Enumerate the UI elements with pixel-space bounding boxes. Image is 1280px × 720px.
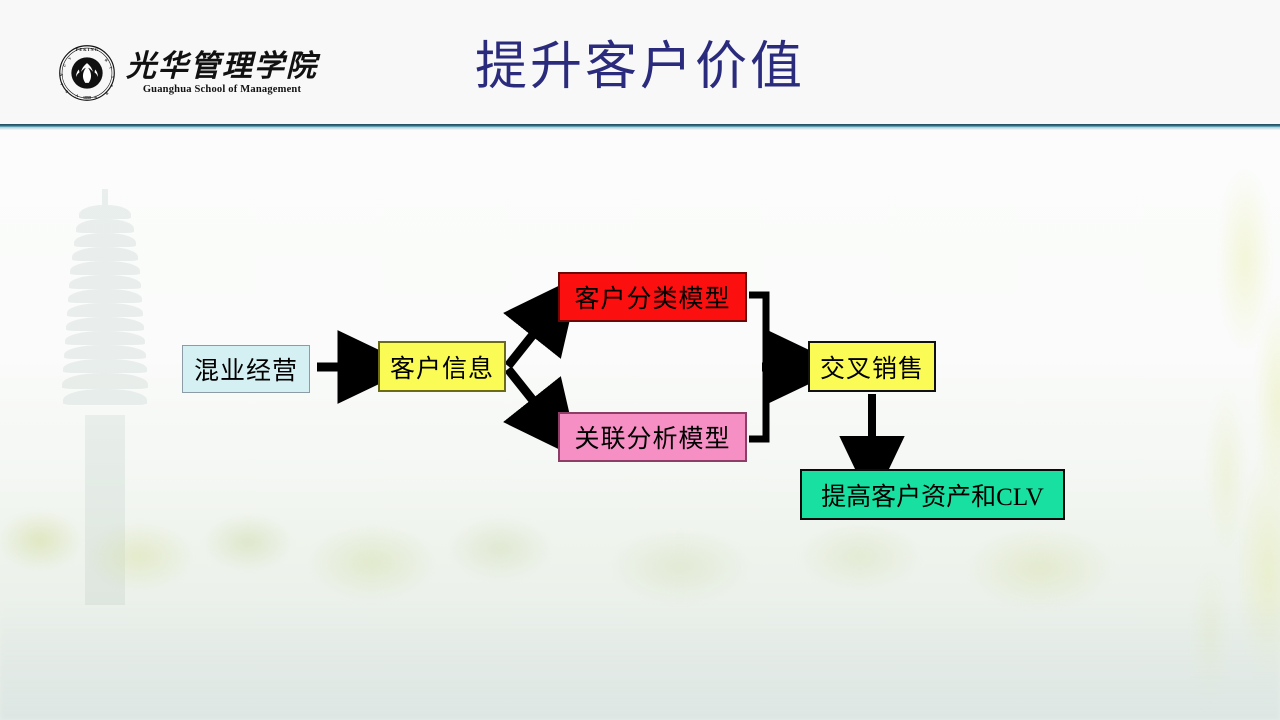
node-raise-clv[interactable]: 提高客户资产和CLV (800, 469, 1065, 520)
node-customer-info[interactable]: 客户信息 (378, 341, 506, 392)
node-mixed-operation[interactable]: 混业经营 (182, 345, 310, 393)
edge-custinfo-to-segmodel (508, 312, 551, 366)
flowchart: 混业经营 客户信息 客户分类模型 关联分析模型 交叉销售 提高客户资产和CLV (0, 0, 1280, 720)
node-association-model[interactable]: 关联分析模型 (558, 412, 747, 462)
node-cross-selling[interactable]: 交叉销售 (808, 341, 936, 392)
node-segmentation-model[interactable]: 客户分类模型 (558, 272, 747, 322)
slide-canvas: P E K I N G 1898 U N I T I S R R V E V N (0, 0, 1280, 720)
edge-merge-bracket (749, 295, 766, 439)
edge-custinfo-to-assocmodel (508, 369, 551, 423)
